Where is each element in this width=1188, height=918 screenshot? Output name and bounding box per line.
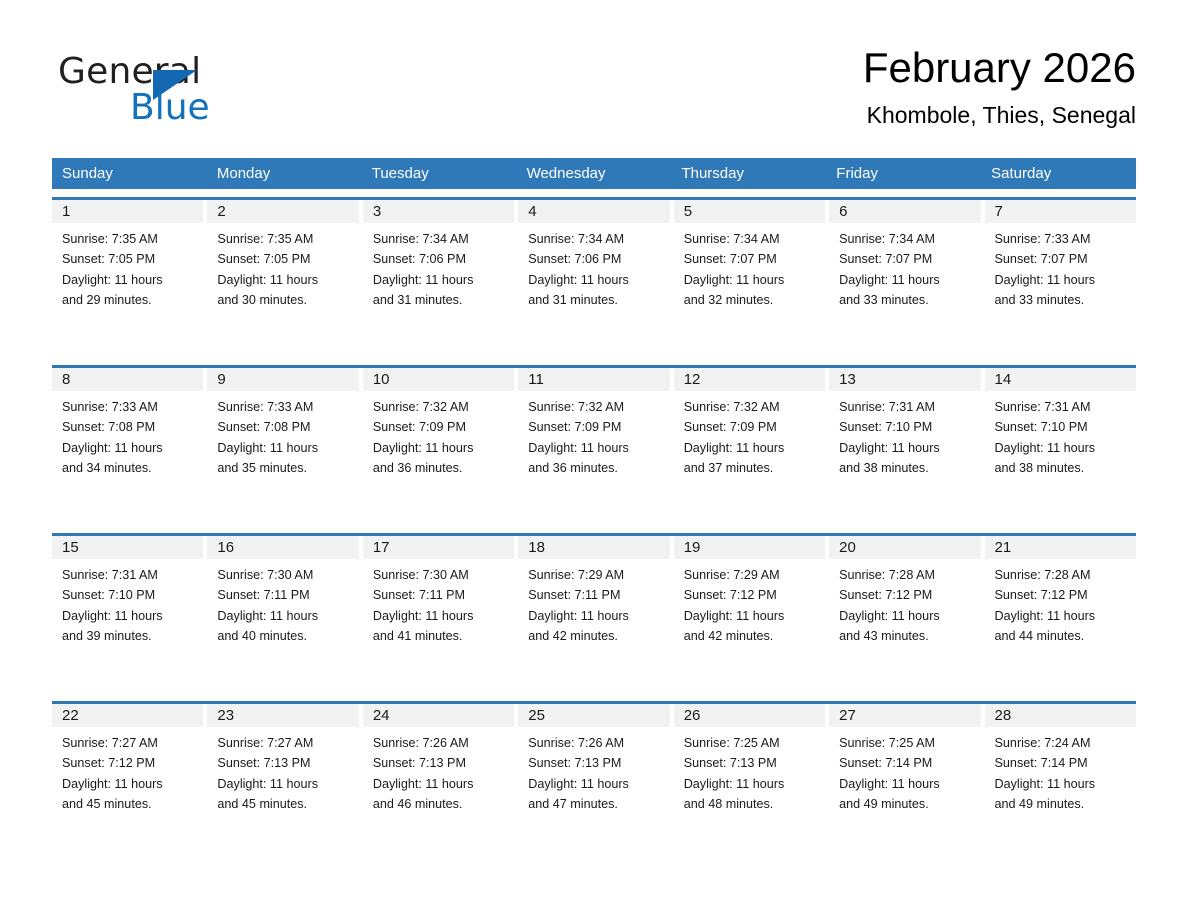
day-number: 19 (674, 536, 825, 559)
daylight-line1: Daylight: 11 hours (62, 606, 195, 626)
weekday-header-row: Sunday Monday Tuesday Wednesday Thursday… (52, 158, 1136, 189)
sunset-text: Sunset: 7:12 PM (62, 753, 195, 773)
sunset-text: Sunset: 7:09 PM (528, 417, 661, 437)
day-cell[interactable]: 13 Sunrise: 7:31 AM Sunset: 7:10 PM Dayl… (829, 368, 980, 525)
page-title: February 2026 (436, 40, 1136, 96)
sunrise-text: Sunrise: 7:30 AM (217, 565, 350, 585)
day-number: 23 (207, 704, 358, 727)
day-details: Sunrise: 7:34 AM Sunset: 7:07 PM Dayligh… (829, 223, 980, 311)
day-details: Sunrise: 7:34 AM Sunset: 7:07 PM Dayligh… (674, 223, 825, 311)
sunrise-text: Sunrise: 7:34 AM (684, 229, 817, 249)
day-cell[interactable]: 11 Sunrise: 7:32 AM Sunset: 7:09 PM Dayl… (518, 368, 669, 525)
daylight-line1: Daylight: 11 hours (684, 270, 817, 290)
day-cell[interactable]: 1 Sunrise: 7:35 AM Sunset: 7:05 PM Dayli… (52, 200, 203, 357)
day-cell[interactable]: 12 Sunrise: 7:32 AM Sunset: 7:09 PM Dayl… (674, 368, 825, 525)
day-number: 3 (363, 200, 514, 223)
daylight-line1: Daylight: 11 hours (373, 438, 506, 458)
daylight-line1: Daylight: 11 hours (373, 606, 506, 626)
day-number: 4 (518, 200, 669, 223)
sunset-text: Sunset: 7:10 PM (839, 417, 972, 437)
daylight-line1: Daylight: 11 hours (217, 774, 350, 794)
sunrise-text: Sunrise: 7:27 AM (217, 733, 350, 753)
sunrise-text: Sunrise: 7:32 AM (373, 397, 506, 417)
sunset-text: Sunset: 7:06 PM (373, 249, 506, 269)
sunrise-text: Sunrise: 7:34 AM (839, 229, 972, 249)
daylight-line1: Daylight: 11 hours (995, 270, 1128, 290)
day-cell[interactable]: 28 Sunrise: 7:24 AM Sunset: 7:14 PM Dayl… (985, 704, 1136, 861)
daylight-line2: and 47 minutes. (528, 794, 661, 814)
sunrise-text: Sunrise: 7:33 AM (62, 397, 195, 417)
day-cell[interactable]: 24 Sunrise: 7:26 AM Sunset: 7:13 PM Dayl… (363, 704, 514, 861)
day-cell[interactable]: 27 Sunrise: 7:25 AM Sunset: 7:14 PM Dayl… (829, 704, 980, 861)
page-header: General Blue February 2026 Khombole, Thi… (52, 40, 1136, 150)
daylight-line1: Daylight: 11 hours (62, 270, 195, 290)
daylight-line1: Daylight: 11 hours (839, 774, 972, 794)
day-number: 21 (985, 536, 1136, 559)
sunrise-text: Sunrise: 7:26 AM (528, 733, 661, 753)
weekday-header-saturday: Saturday (981, 158, 1136, 189)
daylight-line2: and 33 minutes. (839, 290, 972, 310)
day-number: 6 (829, 200, 980, 223)
day-details: Sunrise: 7:24 AM Sunset: 7:14 PM Dayligh… (985, 727, 1136, 815)
daylight-line1: Daylight: 11 hours (995, 438, 1128, 458)
day-details: Sunrise: 7:26 AM Sunset: 7:13 PM Dayligh… (518, 727, 669, 815)
sunset-text: Sunset: 7:12 PM (684, 585, 817, 605)
day-number: 26 (674, 704, 825, 727)
sunrise-text: Sunrise: 7:25 AM (839, 733, 972, 753)
sunset-text: Sunset: 7:10 PM (62, 585, 195, 605)
day-cell[interactable]: 19 Sunrise: 7:29 AM Sunset: 7:12 PM Dayl… (674, 536, 825, 693)
day-number: 28 (985, 704, 1136, 727)
sunset-text: Sunset: 7:13 PM (684, 753, 817, 773)
sunset-text: Sunset: 7:08 PM (217, 417, 350, 437)
day-details: Sunrise: 7:28 AM Sunset: 7:12 PM Dayligh… (829, 559, 980, 647)
daylight-line2: and 34 minutes. (62, 458, 195, 478)
sunrise-text: Sunrise: 7:25 AM (684, 733, 817, 753)
day-cell[interactable]: 21 Sunrise: 7:28 AM Sunset: 7:12 PM Dayl… (985, 536, 1136, 693)
sunrise-text: Sunrise: 7:31 AM (995, 397, 1128, 417)
sunset-text: Sunset: 7:12 PM (839, 585, 972, 605)
day-details: Sunrise: 7:33 AM Sunset: 7:07 PM Dayligh… (985, 223, 1136, 311)
daylight-line1: Daylight: 11 hours (684, 606, 817, 626)
calendar-week-row: 15 Sunrise: 7:31 AM Sunset: 7:10 PM Dayl… (52, 533, 1136, 693)
sunrise-text: Sunrise: 7:30 AM (373, 565, 506, 585)
weekday-header-monday: Monday (207, 158, 362, 189)
daylight-line2: and 36 minutes. (528, 458, 661, 478)
sunrise-text: Sunrise: 7:31 AM (839, 397, 972, 417)
day-cell[interactable]: 6 Sunrise: 7:34 AM Sunset: 7:07 PM Dayli… (829, 200, 980, 357)
day-cell[interactable]: 20 Sunrise: 7:28 AM Sunset: 7:12 PM Dayl… (829, 536, 980, 693)
daylight-line1: Daylight: 11 hours (373, 774, 506, 794)
day-details: Sunrise: 7:29 AM Sunset: 7:12 PM Dayligh… (674, 559, 825, 647)
sunset-text: Sunset: 7:10 PM (995, 417, 1128, 437)
daylight-line1: Daylight: 11 hours (839, 606, 972, 626)
daylight-line2: and 33 minutes. (995, 290, 1128, 310)
sunset-text: Sunset: 7:07 PM (684, 249, 817, 269)
day-number: 9 (207, 368, 358, 391)
sunrise-text: Sunrise: 7:29 AM (684, 565, 817, 585)
daylight-line2: and 42 minutes. (528, 626, 661, 646)
sunset-text: Sunset: 7:12 PM (995, 585, 1128, 605)
sunset-text: Sunset: 7:05 PM (217, 249, 350, 269)
day-details: Sunrise: 7:33 AM Sunset: 7:08 PM Dayligh… (52, 391, 203, 479)
day-cell[interactable]: 7 Sunrise: 7:33 AM Sunset: 7:07 PM Dayli… (985, 200, 1136, 357)
weekday-header-tuesday: Tuesday (362, 158, 517, 189)
daylight-line2: and 31 minutes. (373, 290, 506, 310)
day-number: 18 (518, 536, 669, 559)
day-number: 20 (829, 536, 980, 559)
sunset-text: Sunset: 7:13 PM (373, 753, 506, 773)
day-cell[interactable]: 26 Sunrise: 7:25 AM Sunset: 7:13 PM Dayl… (674, 704, 825, 861)
sunrise-text: Sunrise: 7:24 AM (995, 733, 1128, 753)
daylight-line1: Daylight: 11 hours (373, 270, 506, 290)
day-number: 5 (674, 200, 825, 223)
day-details: Sunrise: 7:35 AM Sunset: 7:05 PM Dayligh… (52, 223, 203, 311)
title-block: February 2026 Khombole, Thies, Senegal (436, 40, 1136, 132)
daylight-line2: and 30 minutes. (217, 290, 350, 310)
daylight-line2: and 37 minutes. (684, 458, 817, 478)
day-number: 14 (985, 368, 1136, 391)
daylight-line2: and 41 minutes. (373, 626, 506, 646)
sunset-text: Sunset: 7:07 PM (839, 249, 972, 269)
daylight-line2: and 44 minutes. (995, 626, 1128, 646)
weekday-header-thursday: Thursday (671, 158, 826, 189)
sunrise-text: Sunrise: 7:29 AM (528, 565, 661, 585)
day-number: 7 (985, 200, 1136, 223)
day-cell[interactable]: 17 Sunrise: 7:30 AM Sunset: 7:11 PM Dayl… (363, 536, 514, 693)
calendar-week-row: 1 Sunrise: 7:35 AM Sunset: 7:05 PM Dayli… (52, 197, 1136, 357)
sunset-text: Sunset: 7:07 PM (995, 249, 1128, 269)
day-cell[interactable]: 25 Sunrise: 7:26 AM Sunset: 7:13 PM Dayl… (518, 704, 669, 861)
day-number: 17 (363, 536, 514, 559)
sunset-text: Sunset: 7:11 PM (217, 585, 350, 605)
sunset-text: Sunset: 7:14 PM (839, 753, 972, 773)
day-details: Sunrise: 7:25 AM Sunset: 7:14 PM Dayligh… (829, 727, 980, 815)
day-number: 16 (207, 536, 358, 559)
day-number: 2 (207, 200, 358, 223)
sunrise-text: Sunrise: 7:34 AM (528, 229, 661, 249)
daylight-line1: Daylight: 11 hours (62, 438, 195, 458)
location-subtitle: Khombole, Thies, Senegal (436, 98, 1136, 132)
general-blue-logo[interactable]: General Blue (52, 52, 312, 132)
daylight-line2: and 43 minutes. (839, 626, 972, 646)
daylight-line2: and 32 minutes. (684, 290, 817, 310)
day-number: 15 (52, 536, 203, 559)
day-cell[interactable]: 16 Sunrise: 7:30 AM Sunset: 7:11 PM Dayl… (207, 536, 358, 693)
sunset-text: Sunset: 7:13 PM (528, 753, 661, 773)
day-details: Sunrise: 7:32 AM Sunset: 7:09 PM Dayligh… (518, 391, 669, 479)
day-details: Sunrise: 7:25 AM Sunset: 7:13 PM Dayligh… (674, 727, 825, 815)
sunrise-text: Sunrise: 7:32 AM (528, 397, 661, 417)
sunset-text: Sunset: 7:05 PM (62, 249, 195, 269)
weekday-header-friday: Friday (826, 158, 981, 189)
sunrise-text: Sunrise: 7:35 AM (62, 229, 195, 249)
day-details: Sunrise: 7:29 AM Sunset: 7:11 PM Dayligh… (518, 559, 669, 647)
day-details: Sunrise: 7:32 AM Sunset: 7:09 PM Dayligh… (674, 391, 825, 479)
day-cell[interactable]: 5 Sunrise: 7:34 AM Sunset: 7:07 PM Dayli… (674, 200, 825, 357)
daylight-line1: Daylight: 11 hours (62, 774, 195, 794)
sunrise-text: Sunrise: 7:28 AM (839, 565, 972, 585)
daylight-line2: and 45 minutes. (217, 794, 350, 814)
day-details: Sunrise: 7:31 AM Sunset: 7:10 PM Dayligh… (985, 391, 1136, 479)
daylight-line2: and 42 minutes. (684, 626, 817, 646)
daylight-line2: and 45 minutes. (62, 794, 195, 814)
daylight-line1: Daylight: 11 hours (684, 774, 817, 794)
sunrise-text: Sunrise: 7:32 AM (684, 397, 817, 417)
sunrise-text: Sunrise: 7:27 AM (62, 733, 195, 753)
sunrise-text: Sunrise: 7:31 AM (62, 565, 195, 585)
day-number: 24 (363, 704, 514, 727)
day-cell[interactable]: 3 Sunrise: 7:34 AM Sunset: 7:06 PM Dayli… (363, 200, 514, 357)
day-cell[interactable]: 22 Sunrise: 7:27 AM Sunset: 7:12 PM Dayl… (52, 704, 203, 861)
sunset-text: Sunset: 7:06 PM (528, 249, 661, 269)
daylight-line1: Daylight: 11 hours (217, 606, 350, 626)
day-cell[interactable]: 4 Sunrise: 7:34 AM Sunset: 7:06 PM Dayli… (518, 200, 669, 357)
day-details: Sunrise: 7:34 AM Sunset: 7:06 PM Dayligh… (518, 223, 669, 311)
day-details: Sunrise: 7:33 AM Sunset: 7:08 PM Dayligh… (207, 391, 358, 479)
daylight-line2: and 29 minutes. (62, 290, 195, 310)
daylight-line1: Daylight: 11 hours (528, 774, 661, 794)
daylight-line1: Daylight: 11 hours (839, 438, 972, 458)
day-cell[interactable]: 18 Sunrise: 7:29 AM Sunset: 7:11 PM Dayl… (518, 536, 669, 693)
day-details: Sunrise: 7:35 AM Sunset: 7:05 PM Dayligh… (207, 223, 358, 311)
day-number: 13 (829, 368, 980, 391)
day-details: Sunrise: 7:32 AM Sunset: 7:09 PM Dayligh… (363, 391, 514, 479)
daylight-line1: Daylight: 11 hours (528, 606, 661, 626)
day-cell[interactable]: 10 Sunrise: 7:32 AM Sunset: 7:09 PM Dayl… (363, 368, 514, 525)
day-number: 22 (52, 704, 203, 727)
daylight-line2: and 36 minutes. (373, 458, 506, 478)
daylight-line2: and 46 minutes. (373, 794, 506, 814)
sunrise-text: Sunrise: 7:33 AM (995, 229, 1128, 249)
day-number: 11 (518, 368, 669, 391)
weekday-header-wednesday: Wednesday (517, 158, 672, 189)
sunset-text: Sunset: 7:11 PM (528, 585, 661, 605)
day-details: Sunrise: 7:30 AM Sunset: 7:11 PM Dayligh… (363, 559, 514, 647)
day-cell[interactable]: 2 Sunrise: 7:35 AM Sunset: 7:05 PM Dayli… (207, 200, 358, 357)
calendar-week-row: 8 Sunrise: 7:33 AM Sunset: 7:08 PM Dayli… (52, 365, 1136, 525)
daylight-line2: and 38 minutes. (995, 458, 1128, 478)
day-number: 8 (52, 368, 203, 391)
day-cell[interactable]: 9 Sunrise: 7:33 AM Sunset: 7:08 PM Dayli… (207, 368, 358, 525)
sunrise-text: Sunrise: 7:35 AM (217, 229, 350, 249)
day-cell[interactable]: 23 Sunrise: 7:27 AM Sunset: 7:13 PM Dayl… (207, 704, 358, 861)
sunset-text: Sunset: 7:13 PM (217, 753, 350, 773)
sunrise-text: Sunrise: 7:34 AM (373, 229, 506, 249)
daylight-line1: Daylight: 11 hours (995, 774, 1128, 794)
daylight-line2: and 31 minutes. (528, 290, 661, 310)
day-details: Sunrise: 7:27 AM Sunset: 7:13 PM Dayligh… (207, 727, 358, 815)
weekday-header-sunday: Sunday (52, 158, 207, 189)
daylight-line2: and 40 minutes. (217, 626, 350, 646)
sunset-text: Sunset: 7:11 PM (373, 585, 506, 605)
calendar-page: General Blue February 2026 Khombole, Thi… (0, 0, 1188, 918)
calendar-week-row: 22 Sunrise: 7:27 AM Sunset: 7:12 PM Dayl… (52, 701, 1136, 861)
sunrise-text: Sunrise: 7:28 AM (995, 565, 1128, 585)
day-details: Sunrise: 7:34 AM Sunset: 7:06 PM Dayligh… (363, 223, 514, 311)
daylight-line1: Daylight: 11 hours (528, 270, 661, 290)
daylight-line2: and 49 minutes. (995, 794, 1128, 814)
day-cell[interactable]: 8 Sunrise: 7:33 AM Sunset: 7:08 PM Dayli… (52, 368, 203, 525)
daylight-line1: Daylight: 11 hours (217, 270, 350, 290)
sunset-text: Sunset: 7:09 PM (684, 417, 817, 437)
daylight-line1: Daylight: 11 hours (839, 270, 972, 290)
daylight-line2: and 35 minutes. (217, 458, 350, 478)
daylight-line2: and 38 minutes. (839, 458, 972, 478)
daylight-line2: and 39 minutes. (62, 626, 195, 646)
day-details: Sunrise: 7:28 AM Sunset: 7:12 PM Dayligh… (985, 559, 1136, 647)
day-details: Sunrise: 7:31 AM Sunset: 7:10 PM Dayligh… (829, 391, 980, 479)
day-details: Sunrise: 7:26 AM Sunset: 7:13 PM Dayligh… (363, 727, 514, 815)
day-details: Sunrise: 7:31 AM Sunset: 7:10 PM Dayligh… (52, 559, 203, 647)
sunrise-text: Sunrise: 7:33 AM (217, 397, 350, 417)
sunset-text: Sunset: 7:14 PM (995, 753, 1128, 773)
day-number: 12 (674, 368, 825, 391)
day-number: 1 (52, 200, 203, 223)
day-number: 27 (829, 704, 980, 727)
day-number: 10 (363, 368, 514, 391)
daylight-line1: Daylight: 11 hours (528, 438, 661, 458)
daylight-line2: and 49 minutes. (839, 794, 972, 814)
daylight-line1: Daylight: 11 hours (684, 438, 817, 458)
day-details: Sunrise: 7:27 AM Sunset: 7:12 PM Dayligh… (52, 727, 203, 815)
daylight-line2: and 48 minutes. (684, 794, 817, 814)
logo-text-blue: Blue (130, 88, 210, 128)
daylight-line1: Daylight: 11 hours (217, 438, 350, 458)
calendar-grid: Sunday Monday Tuesday Wednesday Thursday… (52, 158, 1136, 861)
daylight-line1: Daylight: 11 hours (995, 606, 1128, 626)
sunset-text: Sunset: 7:09 PM (373, 417, 506, 437)
day-number: 25 (518, 704, 669, 727)
sunset-text: Sunset: 7:08 PM (62, 417, 195, 437)
day-cell[interactable]: 14 Sunrise: 7:31 AM Sunset: 7:10 PM Dayl… (985, 368, 1136, 525)
sunrise-text: Sunrise: 7:26 AM (373, 733, 506, 753)
day-details: Sunrise: 7:30 AM Sunset: 7:11 PM Dayligh… (207, 559, 358, 647)
day-cell[interactable]: 15 Sunrise: 7:31 AM Sunset: 7:10 PM Dayl… (52, 536, 203, 693)
